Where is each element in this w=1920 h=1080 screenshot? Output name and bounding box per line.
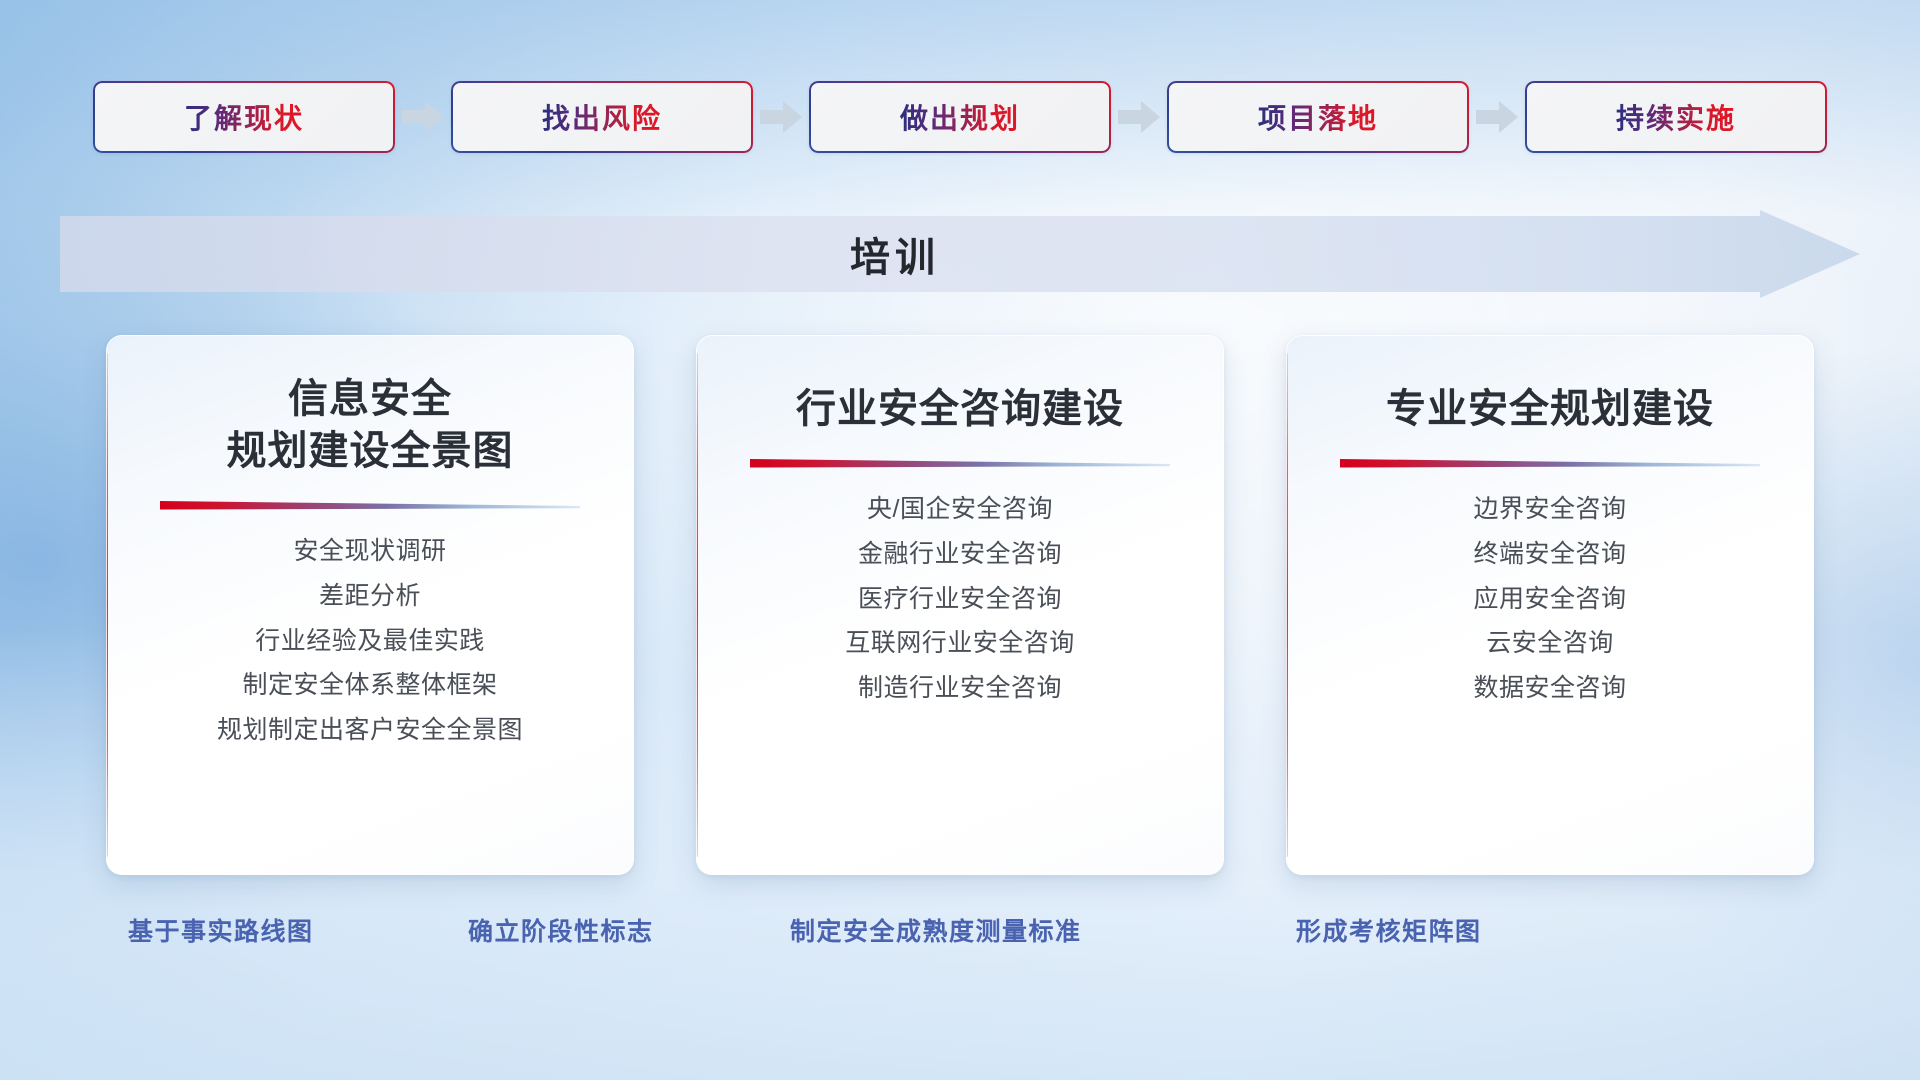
card-list-3: 边界安全咨询 终端安全咨询 应用安全咨询 云安全咨询 数据安全咨询 bbox=[1286, 495, 1814, 703]
step-label-2: 找出风险 bbox=[542, 97, 662, 137]
tapered-gradient-divider-icon bbox=[750, 457, 1170, 473]
list-item: 云安全咨询 bbox=[1486, 629, 1614, 658]
step-box-4[interactable]: 项目落地 bbox=[1167, 81, 1469, 153]
card-divider-3 bbox=[1340, 457, 1760, 473]
step-label-5: 持续实施 bbox=[1616, 97, 1736, 137]
list-item: 医疗行业安全咨询 bbox=[858, 585, 1062, 614]
list-item: 规划制定出客户安全全景图 bbox=[217, 716, 523, 745]
list-item: 安全现状调研 bbox=[293, 537, 446, 566]
step-label-1: 了解现状 bbox=[184, 97, 304, 137]
list-item: 制定安全体系整体框架 bbox=[242, 671, 497, 700]
step-separator-arrow-1 bbox=[395, 81, 451, 153]
step-box-1[interactable]: 了解现状 bbox=[93, 81, 395, 153]
list-item: 央/国企安全咨询 bbox=[867, 495, 1053, 524]
card-title-line-3a: 专业安全规划建设 bbox=[1386, 383, 1714, 435]
footnote-3: 制定安全成熟度测量标准 bbox=[790, 912, 1082, 948]
card-list-1: 安全现状调研 差距分析 行业经验及最佳实践 制定安全体系整体框架 规划制定出客户… bbox=[106, 537, 634, 745]
list-item: 差距分析 bbox=[319, 582, 421, 611]
list-item: 行业经验及最佳实践 bbox=[255, 627, 485, 656]
capability-card-row: 信息安全 规划建设全景图 安全现状调研 差 bbox=[0, 335, 1920, 875]
training-banner: 培训 bbox=[60, 210, 1860, 298]
capability-card-1[interactable]: 信息安全 规划建设全景图 安全现状调研 差 bbox=[106, 335, 634, 875]
step-label-3: 做出规划 bbox=[900, 97, 1020, 137]
list-item: 制造行业安全咨询 bbox=[858, 674, 1062, 703]
list-item: 金融行业安全咨询 bbox=[858, 540, 1062, 569]
card-divider-2 bbox=[750, 457, 1170, 473]
tapered-gradient-divider-icon bbox=[160, 499, 580, 515]
card-title-3: 专业安全规划建设 bbox=[1360, 383, 1740, 435]
step-separator-arrow-4 bbox=[1469, 81, 1525, 153]
card-list-2: 央/国企安全咨询 金融行业安全咨询 医疗行业安全咨询 互联网行业安全咨询 制造行… bbox=[696, 495, 1224, 703]
step-box-5[interactable]: 持续实施 bbox=[1525, 81, 1827, 153]
tapered-gradient-divider-icon bbox=[1340, 457, 1760, 473]
process-step-row: 了解现状 找出风险 做出规划 项目落地 bbox=[0, 78, 1920, 156]
card-title-line-1b: 规划建设全景图 bbox=[227, 425, 514, 477]
capability-card-2[interactable]: 行业安全咨询建设 央/国企安全咨询 金融行业安全咨询 bbox=[696, 335, 1224, 875]
list-item: 互联网行业安全咨询 bbox=[845, 629, 1075, 658]
card-title-line-1a: 信息安全 bbox=[227, 373, 514, 425]
step-box-3[interactable]: 做出规划 bbox=[809, 81, 1111, 153]
card-title-line-2a: 行业安全咨询建设 bbox=[796, 383, 1124, 435]
card-divider-1 bbox=[160, 499, 580, 515]
list-item: 应用安全咨询 bbox=[1473, 585, 1626, 614]
step-label-4: 项目落地 bbox=[1258, 97, 1378, 137]
list-item: 数据安全咨询 bbox=[1473, 674, 1626, 703]
list-item: 终端安全咨询 bbox=[1473, 540, 1626, 569]
step-box-2[interactable]: 找出风险 bbox=[451, 81, 753, 153]
card-title-1: 信息安全 规划建设全景图 bbox=[201, 373, 540, 477]
footnote-row: 基于事实路线图 确立阶段性标志 制定安全成熟度测量标准 形成考核矩阵图 bbox=[0, 912, 1920, 958]
card-title-2: 行业安全咨询建设 bbox=[770, 383, 1150, 435]
list-item: 边界安全咨询 bbox=[1473, 495, 1626, 524]
step-separator-arrow-3 bbox=[1111, 81, 1167, 153]
footnote-4: 形成考核矩阵图 bbox=[1296, 912, 1482, 948]
step-group: 了解现状 找出风险 做出规划 项目落地 bbox=[93, 81, 1827, 153]
footnote-2: 确立阶段性标志 bbox=[468, 912, 654, 948]
training-banner-label: 培训 bbox=[60, 210, 1860, 298]
capability-card-3[interactable]: 专业安全规划建设 边界安全咨询 终端安全咨询 bbox=[1286, 335, 1814, 875]
footnote-1: 基于事实路线图 bbox=[128, 912, 314, 948]
step-separator-arrow-2 bbox=[753, 81, 809, 153]
